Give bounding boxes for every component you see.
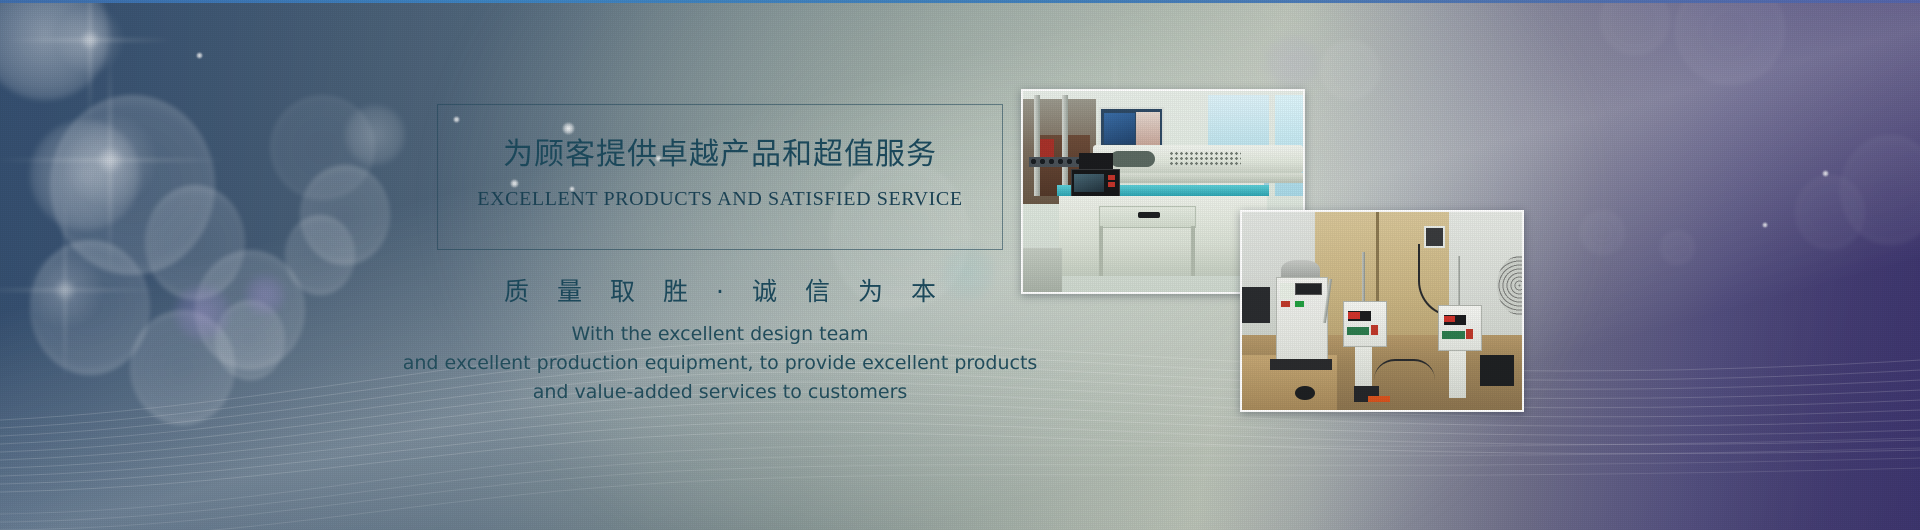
photo-content xyxy=(1242,212,1522,410)
slogan-char: 信 xyxy=(805,277,830,306)
description-line: With the excellent design team xyxy=(330,320,1110,349)
slogan-char: 质 xyxy=(504,277,529,306)
description-line: and excellent production equipment, to p… xyxy=(330,349,1110,378)
slogan-char: 为 xyxy=(858,277,883,306)
headline-english: EXCELLENT PRODUCTS AND SATISFIED SERVICE xyxy=(437,188,1003,211)
slogan-char: 取 xyxy=(610,277,635,306)
description-line: and value-added services to customers xyxy=(330,378,1110,407)
slogan-char: 胜 xyxy=(663,277,688,306)
headline-chinese: 为顾客提供卓越产品和超值服务 xyxy=(437,129,1003,173)
slogan-char: 本 xyxy=(911,277,936,306)
banner-hero: 为顾客提供卓越产品和超值服务 EXCELLENT PRODUCTS AND SA… xyxy=(0,0,1920,530)
press-welding-machines-photo[interactable] xyxy=(1240,210,1524,412)
slogan-line: 质量取胜·诚信为本 xyxy=(437,272,1003,308)
headline-frame xyxy=(437,104,1003,250)
slogan-char: 诚 xyxy=(752,277,777,306)
slogan-char: 量 xyxy=(557,277,582,306)
top-accent-line xyxy=(0,0,1920,3)
background-diagonal-sheen xyxy=(0,0,1920,530)
slogan-separator: · xyxy=(716,277,724,306)
description-paragraph: With the excellent design team and excel… xyxy=(330,320,1110,407)
